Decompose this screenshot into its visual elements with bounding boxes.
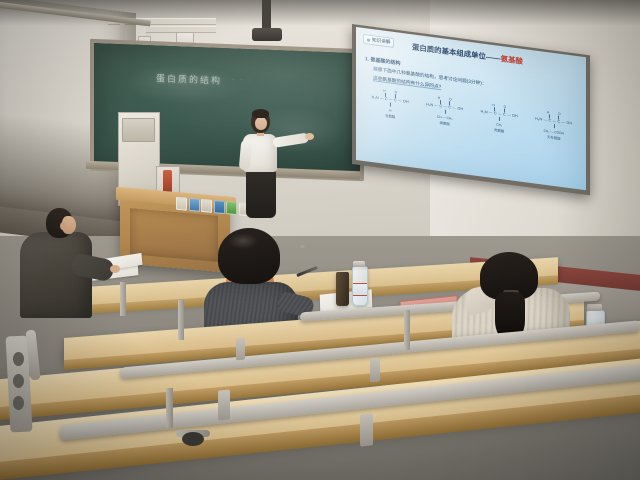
blackboard-chalk-text: 蛋白质的结构 [156,71,222,87]
teacher-face [255,117,267,130]
bottle-cap [353,261,365,267]
judge-ear [60,222,66,230]
desk-foot-cap [182,432,204,446]
teacher-hand [305,133,314,140]
rail-clip [236,338,245,361]
cabinet-slot [122,118,155,142]
rail-clip [370,358,380,383]
student-hair-sheen [228,233,258,249]
bottle-cap [587,304,602,311]
teacher-skirt [246,170,276,218]
teacher-hair [252,109,269,118]
rail-clip [218,389,230,420]
rail-clip [360,413,373,446]
desk-leg [178,300,184,340]
desk-leg [404,310,410,350]
projector [252,28,282,41]
fire-extinguisher-icon [163,170,172,192]
water-bottle [352,266,368,306]
desk-leg [120,282,126,316]
desk-leg [166,388,173,428]
thermos-cap [336,268,349,274]
judge-hand [110,265,120,273]
classroom-photo: 禁止 吸烟 蛋白质的结构 · · · 知识讲解 蛋白质的基本组成单位——氨基酸 … [0,0,640,480]
podium-front-panel [130,208,218,262]
thermos-cup [336,272,349,306]
